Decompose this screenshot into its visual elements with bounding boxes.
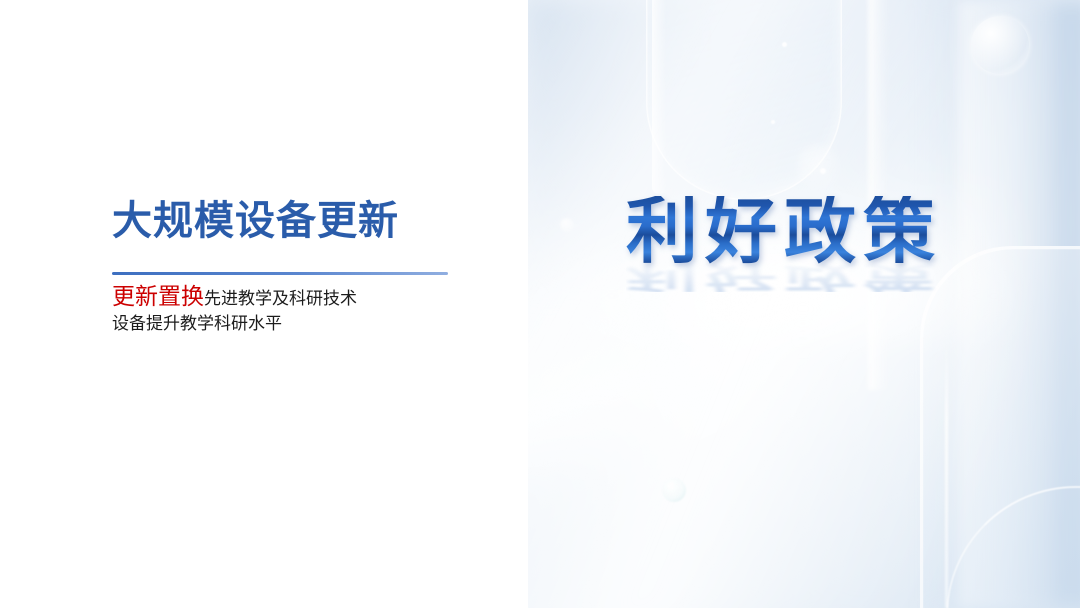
presentation-slide: 大规模设备更新 更新置换先进教学及科研技术 设备提升教学科研水平 bbox=[0, 0, 1080, 608]
subtitle-rest: 先进教学及科研技术 bbox=[204, 289, 357, 308]
subtitle-line-1: 更新置换先进教学及科研技术 bbox=[112, 282, 462, 311]
bubble-icon-dot-3 bbox=[820, 168, 826, 174]
bubble-icon-dot-2 bbox=[771, 120, 775, 124]
subtitle-line-2: 设备提升教学科研水平 bbox=[112, 311, 462, 337]
bubble-icon-large bbox=[971, 16, 1029, 74]
bubble-icon-small-3 bbox=[796, 144, 840, 188]
headline-reflection: 利好政策 bbox=[626, 260, 942, 292]
headline-block: 利好政策 利好政策 bbox=[528, 196, 1080, 376]
bubble-icon-small-4 bbox=[662, 478, 686, 502]
right-glass-panel: 利好政策 利好政策 bbox=[528, 0, 1080, 608]
subtitle-emphasis: 更新置换 bbox=[112, 283, 204, 309]
headline-3d-text: 利好政策 bbox=[626, 196, 942, 268]
left-text-block: 大规模设备更新 更新置换先进教学及科研技术 设备提升教学科研水平 bbox=[112, 198, 472, 244]
title-divider bbox=[112, 272, 448, 275]
bubble-icon-dot-1 bbox=[782, 42, 787, 47]
subtitle-block: 更新置换先进教学及科研技术 设备提升教学科研水平 bbox=[112, 282, 462, 336]
page-title: 大规模设备更新 bbox=[112, 198, 472, 244]
